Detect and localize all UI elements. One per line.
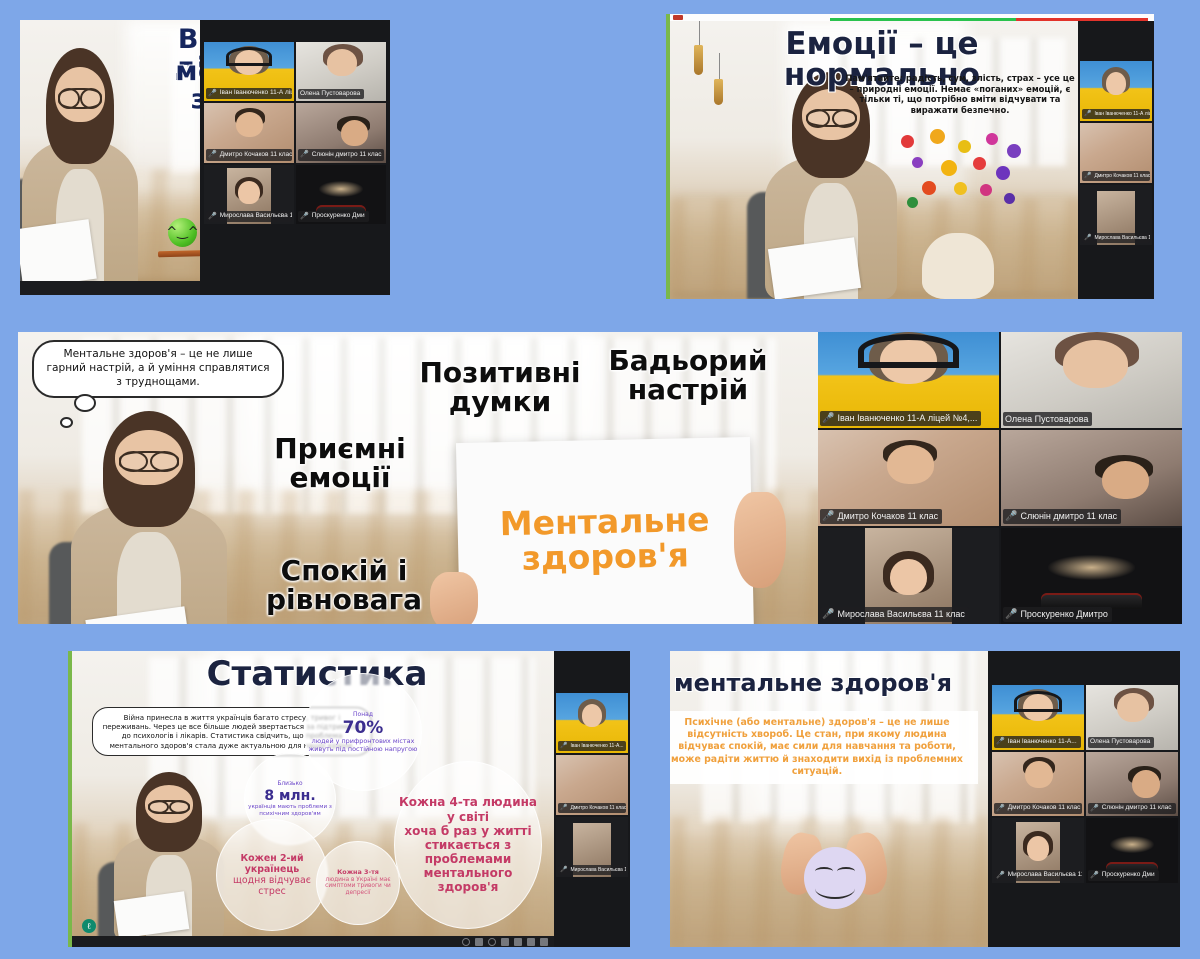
definition-title: ментальне здоров'я xyxy=(670,671,988,695)
participant-tile[interactable]: 🎤 Слюнін дмитро 11 клас xyxy=(1086,752,1178,817)
mic-off-icon: 🎤 xyxy=(996,804,1005,813)
participant-tile[interactable]: 🎤 Дмитро Кочаков 11 клас xyxy=(1080,123,1152,183)
participant-tile[interactable]: 🎤 Іван Іванюченко 11-А ліцей №4,... xyxy=(1080,61,1152,121)
participant-name: 🎤 Іван Іванюченко 11-А ліцей №4,... xyxy=(206,88,292,99)
panel-statistics[interactable]: Статистика Війна принесла в життя україн… xyxy=(68,651,630,947)
stat-value: 8 млн. xyxy=(264,788,315,805)
mental-health-sign: Ментальне здоров'я xyxy=(456,437,754,624)
participant-tile[interactable]: Олена Пустоварова xyxy=(1086,685,1178,750)
floating-word: Позитивні думки xyxy=(410,358,590,417)
stat-value: Кожен 2-ий українець xyxy=(220,853,324,875)
panel-positive[interactable]: Ментальне здоров'я – це не лише гарний н… xyxy=(18,332,1182,624)
participant-tile[interactable]: 🎤 Іван Іванюченко 11-А ліцей №4,... xyxy=(204,42,294,101)
participant-name: 🎤 Іван Іванюченко 11-А ліцей №4,... xyxy=(820,411,981,427)
stat-value: Кожна 4-та людина у світі xyxy=(398,795,538,823)
participant-name: 🎤 Іван Іванюченко 11-А... xyxy=(994,736,1081,747)
mic-off-icon: 🎤 xyxy=(560,804,567,812)
participant-grid: 🎤 Іван Іванюченко 11-А ліцей №4,... Олен… xyxy=(204,42,386,224)
participant-name: 🎤 Дмитро Кочаков 11 клас xyxy=(820,509,942,525)
participant-name: 🎤 Дмитро Кочаков 11 клас xyxy=(1082,171,1150,181)
stat-lead: Понад xyxy=(353,711,373,718)
presenter-figure xyxy=(20,43,146,295)
mic-off-icon: 🎤 xyxy=(208,150,217,159)
floating-word: Спокій і рівновага xyxy=(254,556,434,615)
participant-name: 🎤 Слюнін дмитро 11 клас xyxy=(1003,509,1121,525)
mic-off-icon: 🎤 xyxy=(208,89,217,98)
participant-name: 🎤 Слюнін дмитро 11 клас xyxy=(298,149,384,160)
mic-off-icon: 🎤 xyxy=(822,412,834,426)
mic-off-icon: 🎤 xyxy=(1090,871,1099,880)
participant-room-5: 🎤 Іван Іванюченко 11-А... Олена Пустовар… xyxy=(988,651,1180,947)
participant-room-1: 🎤 Іван Іванюченко 11-А ліцей №4,... Олен… xyxy=(200,20,390,295)
panel-emotions[interactable]: Емоції – це нормально Пам'ятайте: радіст… xyxy=(666,14,1154,299)
green-smiling-emoji: ^‿^ xyxy=(168,218,197,247)
hand-left xyxy=(430,572,478,624)
slides-icon[interactable] xyxy=(501,938,509,946)
mic-off-icon: 🎤 xyxy=(822,510,834,524)
statistics-slide: Статистика Війна принесла в життя україн… xyxy=(72,651,554,947)
present-icon[interactable] xyxy=(540,938,548,946)
mic-off-icon: 🎤 xyxy=(1084,234,1091,242)
participant-name: 🎤 Мирослава Васильєва 11 клас xyxy=(994,870,1082,881)
stat-text: українців мають проблеми з психічним здо… xyxy=(248,804,332,817)
participant-tile[interactable]: 🎤 Дмитро Кочаков 11 клас xyxy=(818,430,999,526)
participant-tile[interactable]: 🎤 Дмитро Кочаков 11 клас xyxy=(992,752,1084,817)
participant-tile[interactable]: 🎤 Іван Іванюченко 11-А... xyxy=(992,685,1084,750)
participant-tile[interactable]: 🎤 Мирослава Васильєва 11 клас xyxy=(1080,185,1152,245)
stat-bubble-every-2nd: Кожен 2-ий українець щодня відчуває стре… xyxy=(216,819,328,931)
participant-tile[interactable]: 🎤 Проскуренко Дми xyxy=(1086,818,1178,883)
stat-text: хоча б раз у житті стикається з проблема… xyxy=(398,824,538,895)
presenter-figure xyxy=(106,769,232,941)
participant-name: 🎤 Проскуренко Дми xyxy=(1088,870,1159,881)
definition-slide: ментальне здоров'я Психічне (або менталь… xyxy=(670,651,988,947)
mic-off-icon: 🎤 xyxy=(300,212,309,221)
stat-text: людина в Україні має симптоми тривоги чи… xyxy=(320,877,396,897)
tab-favicon xyxy=(673,15,683,20)
participant-name: 🎤 Дмитро Кочаков 11 клас xyxy=(558,803,626,813)
participant-name: 🎤 Слюнін дмитро 11 клас xyxy=(1088,803,1176,814)
participant-tile[interactable]: 🎤 Іван Іванюченко 11-А... xyxy=(556,693,628,753)
mic-off-icon: 🎤 xyxy=(1005,608,1017,622)
speech-bubble-text: Ментальне здоров'я – це не лише гарний н… xyxy=(46,348,269,388)
mic-off-icon: 🎤 xyxy=(560,742,567,750)
stat-text: людей у прифронтових містах живуть під п… xyxy=(308,738,418,753)
flower-bouquet xyxy=(896,129,1028,221)
emotions-slide: Емоції – це нормально Пам'ятайте: радіст… xyxy=(670,21,1082,299)
stat-lead: Близько xyxy=(278,781,303,788)
participant-name: Олена Пустоварова xyxy=(1003,412,1092,426)
pause-icon[interactable] xyxy=(475,938,483,946)
participant-room-3: 🎤 Іван Іванюченко 11-А ліцей №4,... Олен… xyxy=(818,332,1182,624)
participant-tile[interactable]: 🎤 Мирослава Васильєва 11 клас xyxy=(992,818,1084,883)
participant-name: 🎤 Проскуренко Дмитро xyxy=(1003,607,1112,623)
mic-off-icon: 🎤 xyxy=(560,866,567,874)
mic-off-icon: 🎤 xyxy=(1005,510,1017,524)
participant-name: 🎤 Іван Іванюченко 11-А... xyxy=(558,741,626,751)
participant-name: 🎤 Іван Іванюченко 11-А ліцей №4,... xyxy=(1082,109,1150,119)
participant-name: 🎤 Мирослава Васильєва 11 клас xyxy=(820,607,969,623)
stat-value: 70% xyxy=(343,718,384,738)
participant-tile[interactable]: 🎤 Мирослава Васильєва 11 клас xyxy=(818,528,999,624)
screen-icon[interactable] xyxy=(527,938,535,946)
presenter-figure xyxy=(60,406,238,624)
participant-name: 🎤 Проскуренко Дми xyxy=(298,211,369,222)
flower-vase xyxy=(922,233,994,299)
participant-tile[interactable]: 🎤 Слюнін дмитро 11 клас xyxy=(1001,430,1182,526)
browser-top-strip xyxy=(670,14,1154,21)
participant-name: Олена Пустоварова xyxy=(298,89,364,100)
participant-name: 🎤 Дмитро Кочаков 11 клас xyxy=(994,803,1082,814)
participant-grid: 🎤 Іван Іванюченко 11-А ліцей №4,... Олен… xyxy=(818,332,1182,624)
mic-off-icon: 🎤 xyxy=(300,150,309,159)
participant-name: 🎤 Мирослава Васильєва 11 клас xyxy=(206,211,292,222)
stat-value: Кожна 3-тя xyxy=(337,869,379,877)
grid-icon[interactable] xyxy=(514,938,522,946)
participant-room-2: 🎤 Іван Іванюченко 11-А ліцей №4,... 🎤 Дм… xyxy=(1078,21,1154,299)
smiling-face-disc xyxy=(804,847,866,909)
participant-grid: 🎤 Іван Іванюченко 11-А... 🎤 Дмитро Кочак… xyxy=(556,693,628,877)
slide-control-bar[interactable] xyxy=(72,936,554,947)
mic-off-icon: 🎤 xyxy=(996,737,1005,746)
mic-off-icon: 🎤 xyxy=(1090,804,1099,813)
participant-name: 🎤 Мирослава Васильєва 11 клас xyxy=(558,865,626,875)
stat-text: щодня відчуває стрес xyxy=(220,875,324,897)
participant-tile[interactable]: Олена Пустоварова xyxy=(296,42,386,101)
participant-tile[interactable]: 🎤 Мирослава Васильєва 11 клас xyxy=(556,817,628,877)
participant-tile[interactable]: 🎤 Мирослава Васильєва 11 клас xyxy=(204,165,294,224)
participant-tile[interactable]: Олена Пустоварова xyxy=(1001,332,1182,428)
mic-off-icon: 🎤 xyxy=(822,608,834,622)
participant-name: 🎤 Мирослава Васильєва 11 клас xyxy=(1082,233,1150,243)
stat-bubble-every-3rd: Кожна 3-тя людина в Україні має симптоми… xyxy=(316,841,400,925)
participant-tile[interactable]: 🎤 Іван Іванюченко 11-А ліцей №4,... xyxy=(818,332,999,428)
participant-tile[interactable]: 🎤 Проскуренко Дми xyxy=(296,165,386,224)
emotions-body: Пам'ятайте: радість, сум, злість, страх … xyxy=(842,73,1078,115)
mic-off-icon: 🎤 xyxy=(1084,110,1091,118)
participant-name: Олена Пустоварова xyxy=(1088,737,1154,748)
hand-right xyxy=(734,492,786,588)
mic-off-icon: 🎤 xyxy=(996,871,1005,880)
participant-name: 🎤 Дмитро Кочаков 11 клас xyxy=(206,149,292,160)
participant-tile[interactable]: 🎤 Слюнін дмитро 11 клас xyxy=(296,103,386,162)
stat-bubble-every-4th: Кожна 4-та людина у світі хоча б раз у ж… xyxy=(394,761,542,929)
participant-tile[interactable]: 🎤 Проскуренко Дмитро xyxy=(1001,528,1182,624)
floating-word: Приємні емоції xyxy=(256,434,424,493)
record-icon[interactable] xyxy=(488,938,496,946)
participant-grid: 🎤 Іван Іванюченко 11-А ліцей №4,... 🎤 Дм… xyxy=(1080,61,1152,245)
screenshot-page: Відкритий діалог про ментальне здоров'я … xyxy=(0,0,1200,959)
school-logo-icon: ℓ xyxy=(82,919,96,933)
participant-tile[interactable]: 🎤 Дмитро Кочаков 11 клас xyxy=(204,103,294,162)
mic-off-icon: 🎤 xyxy=(208,212,217,221)
floating-word: Бадьорий настрій xyxy=(598,346,778,405)
positive-slide: Ментальне здоров'я – це не лише гарний н… xyxy=(18,332,824,624)
pointer-icon[interactable] xyxy=(462,938,470,946)
participant-room-4: 🎤 Іван Іванюченко 11-А... 🎤 Дмитро Кочак… xyxy=(554,651,630,947)
definition-body: Психічне (або ментальне) здоров'я – це н… xyxy=(670,711,978,784)
participant-grid: 🎤 Іван Іванюченко 11-А... Олена Пустовар… xyxy=(992,685,1178,883)
mic-off-icon: 🎤 xyxy=(1084,172,1091,180)
panel-intro[interactable]: Відкритий діалог про ментальне здоров'я … xyxy=(20,20,390,295)
panel-definition[interactable]: ментальне здоров'я Психічне (або менталь… xyxy=(670,651,1180,947)
speech-bubble: Ментальне здоров'я – це не лише гарний н… xyxy=(32,340,284,398)
sign-line2: здоров'я xyxy=(522,538,690,576)
participant-tile[interactable]: 🎤 Дмитро Кочаков 11 клас xyxy=(556,755,628,815)
